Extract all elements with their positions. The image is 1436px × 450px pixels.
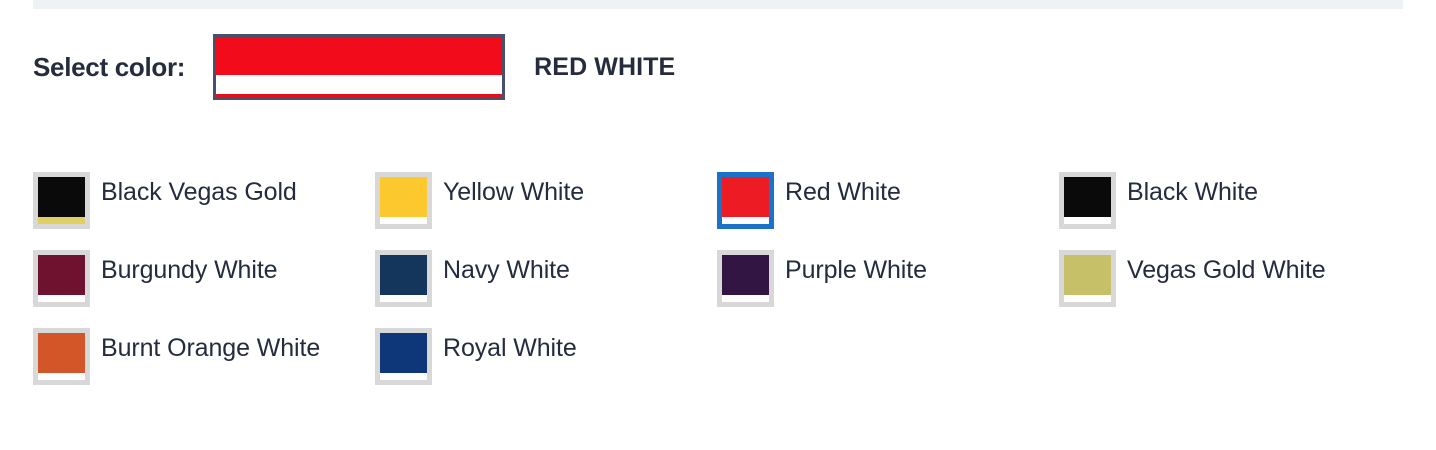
color-option[interactable]: Burgundy White <box>33 250 375 307</box>
color-option-swatch[interactable] <box>33 328 90 385</box>
color-option-secondary-band <box>1064 217 1111 224</box>
color-option-secondary-band <box>38 217 85 224</box>
color-option-primary-band <box>722 255 769 295</box>
color-option-secondary-band <box>38 295 85 302</box>
color-option-primary-band <box>380 177 427 217</box>
color-option[interactable]: Black White <box>1059 172 1401 229</box>
color-option-label: Yellow White <box>443 172 584 212</box>
color-option[interactable]: Red White <box>717 172 1059 229</box>
color-option-primary-band <box>1064 255 1111 295</box>
color-option-secondary-band <box>722 295 769 302</box>
top-accent-strip <box>33 0 1403 9</box>
color-option-primary-band <box>38 333 85 373</box>
color-option-secondary-band <box>380 295 427 302</box>
color-option-secondary-band <box>38 373 85 380</box>
color-option-swatch[interactable] <box>33 172 90 229</box>
color-option-label: Purple White <box>785 250 927 290</box>
color-option[interactable]: Vegas Gold White <box>1059 250 1401 307</box>
selected-color-name: RED WHITE <box>534 53 675 82</box>
selected-color-underline <box>216 94 502 97</box>
color-option-primary-band <box>380 255 427 295</box>
color-option-label: Black White <box>1127 172 1258 212</box>
color-option-swatch[interactable] <box>375 172 432 229</box>
color-option-swatch[interactable] <box>375 250 432 307</box>
color-option-swatch[interactable] <box>717 250 774 307</box>
color-option-label: Black Vegas Gold <box>101 172 297 212</box>
color-option-swatch[interactable] <box>33 250 90 307</box>
color-option-primary-band <box>38 255 85 295</box>
color-option[interactable]: Black Vegas Gold <box>33 172 375 229</box>
color-option-primary-band <box>38 177 85 217</box>
color-option-label: Vegas Gold White <box>1127 250 1326 290</box>
color-option[interactable]: Yellow White <box>375 172 717 229</box>
color-option[interactable]: Navy White <box>375 250 717 307</box>
color-option-secondary-band <box>380 217 427 224</box>
color-option[interactable]: Burnt Orange White <box>33 328 375 385</box>
color-option-swatch[interactable] <box>1059 172 1116 229</box>
select-color-label: Select color: <box>33 52 185 83</box>
selected-color-primary-band <box>216 37 502 75</box>
selected-color-row: Select color: RED WHITE <box>33 34 675 100</box>
color-option-label: Burnt Orange White <box>101 328 320 368</box>
color-option-primary-band <box>1064 177 1111 217</box>
color-options-grid: Black Vegas GoldYellow WhiteRed WhiteBla… <box>33 172 1413 385</box>
color-option-label: Royal White <box>443 328 577 368</box>
color-option-secondary-band <box>722 217 769 224</box>
color-option-swatch[interactable] <box>1059 250 1116 307</box>
color-option-swatch[interactable] <box>375 328 432 385</box>
color-option-secondary-band <box>380 373 427 380</box>
color-option[interactable]: Royal White <box>375 328 717 385</box>
color-option-swatch[interactable] <box>717 172 774 229</box>
color-option-label: Navy White <box>443 250 570 290</box>
color-option-label: Red White <box>785 172 901 212</box>
color-option-primary-band <box>722 177 769 217</box>
color-option-primary-band <box>380 333 427 373</box>
color-option-label: Burgundy White <box>101 250 277 290</box>
color-option-secondary-band <box>1064 295 1111 302</box>
selected-color-preview[interactable] <box>213 34 505 100</box>
color-option[interactable]: Purple White <box>717 250 1059 307</box>
